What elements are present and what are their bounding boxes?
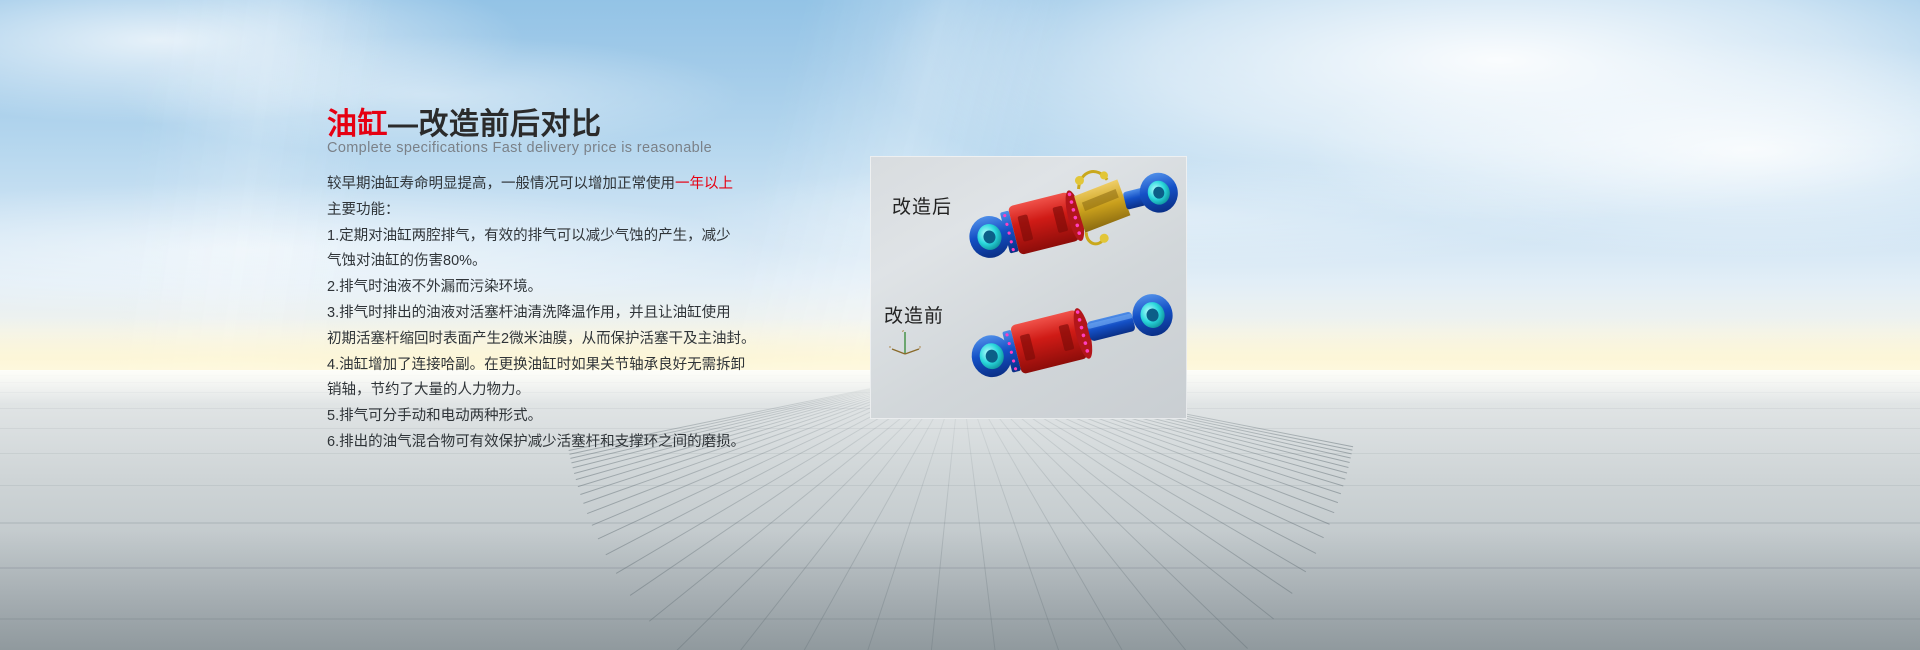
feature-line: 气蚀对油缸的伤害80%。 bbox=[327, 249, 947, 275]
hero-banner: 油缸—改造前后对比 Complete specifications Fast d… bbox=[0, 0, 1920, 650]
feature-line-text: 较早期油缸寿命明显提高，一般情况可以增加正常使用 bbox=[327, 176, 675, 192]
feature-line-text: 销轴，节约了大量的人力物力。 bbox=[327, 382, 530, 398]
coordinate-axes-icon: z x y bbox=[888, 328, 924, 358]
feature-line-text: 1.定期对油缸两腔排气，有效的排气可以减少气蚀的产生，减少 bbox=[327, 228, 731, 244]
feature-line-highlight: 一年以上 bbox=[675, 176, 733, 192]
feature-line: 初期活塞杆缩回时表面产生2微米油膜，从而保护活塞干及主油封。 bbox=[327, 327, 947, 353]
feature-line-text: 4.油缸增加了连接哈副。在更换油缸时如果关节轴承良好无需拆卸 bbox=[327, 357, 745, 373]
feature-line: 较早期油缸寿命明显提高，一般情况可以增加正常使用一年以上 bbox=[327, 172, 947, 198]
feature-line: 5.排气可分手动和电动两种形式。 bbox=[327, 404, 947, 430]
banner-content: 油缸—改造前后对比 Complete specifications Fast d… bbox=[0, 0, 1920, 650]
feature-line: 2.排气时油液不外漏而污染环境。 bbox=[327, 275, 947, 301]
svg-text:y: y bbox=[919, 344, 921, 349]
label-after-modification: 改造后 bbox=[892, 192, 952, 219]
cylinder-illustration-before bbox=[962, 278, 1184, 400]
feature-line-text: 6.排出的油气混合物可有效保护减少活塞杆和支撑环之间的磨损。 bbox=[327, 434, 745, 450]
feature-line-text: 气蚀对油缸的伤害80%。 bbox=[327, 253, 487, 269]
feature-line: 6.排出的油气混合物可有效保护减少活塞杆和支撑环之间的磨损。 bbox=[327, 430, 947, 456]
feature-line: 主要功能： bbox=[327, 198, 947, 224]
product-image-panel: 改造后 改造前 z x y bbox=[870, 156, 1187, 419]
feature-line-text: 2.排气时油液不外漏而污染环境。 bbox=[327, 279, 542, 295]
page-subtitle: Complete specifications Fast delivery pr… bbox=[327, 140, 712, 156]
feature-line: 1.定期对油缸两腔排气，有效的排气可以减少气蚀的产生，减少 bbox=[327, 224, 947, 250]
page-title: 油缸—改造前后对比 bbox=[327, 108, 602, 141]
feature-line: 3.排气时排出的油液对活塞杆油清洗降温作用，并且让油缸使用 bbox=[327, 301, 947, 327]
page-title-rest: —改造前后对比 bbox=[388, 108, 602, 141]
page-title-highlight: 油缸 bbox=[327, 108, 388, 141]
feature-description: 较早期油缸寿命明显提高，一般情况可以增加正常使用一年以上主要功能：1.定期对油缸… bbox=[327, 172, 947, 456]
feature-line: 销轴，节约了大量的人力物力。 bbox=[327, 378, 947, 404]
label-before-modification: 改造前 bbox=[884, 301, 944, 328]
cylinder-illustration-after bbox=[958, 162, 1183, 280]
svg-text:x: x bbox=[889, 344, 891, 349]
feature-line: 4.油缸增加了连接哈副。在更换油缸时如果关节轴承良好无需拆卸 bbox=[327, 353, 947, 379]
feature-line-text: 初期活塞杆缩回时表面产生2微米油膜，从而保护活塞干及主油封。 bbox=[327, 331, 756, 347]
feature-line-text: 5.排气可分手动和电动两种形式。 bbox=[327, 408, 542, 424]
feature-line-text: 3.排气时排出的油液对活塞杆油清洗降温作用，并且让油缸使用 bbox=[327, 305, 731, 321]
svg-text:z: z bbox=[902, 328, 904, 333]
feature-line-text: 主要功能： bbox=[327, 202, 400, 218]
